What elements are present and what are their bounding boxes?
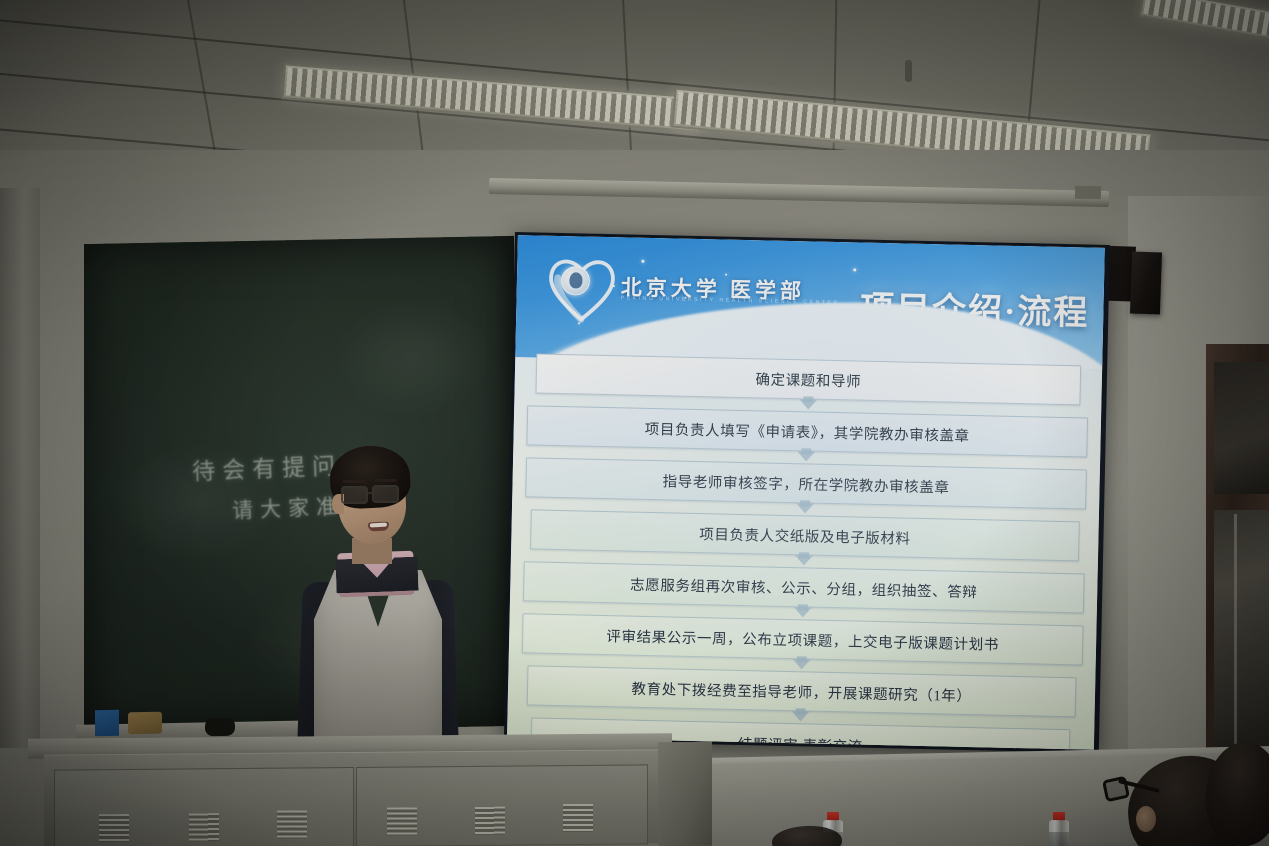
flow-step: 教育处下拨经费至指导老师，开展课题研究（1年） xyxy=(526,665,1077,717)
ceiling-light-panel xyxy=(281,63,703,133)
flow-step-label: 志愿服务组再次审核、公示、分组，组织抽签、答辩 xyxy=(630,573,978,602)
blackboard-eraser xyxy=(205,718,235,737)
eyeglasses-bridge xyxy=(367,492,374,494)
door-window-upper xyxy=(1214,362,1269,494)
flow-step-label: 项目负责人填写《申请表》，其学院教办审核盖章 xyxy=(645,417,970,445)
podium-door-left[interactable] xyxy=(54,767,354,846)
metal-podium-cabinet xyxy=(44,749,658,846)
eyeglasses-icon xyxy=(341,486,368,504)
wall-speaker xyxy=(1130,251,1162,314)
lecture-room-photo: 待会有提问环节 请大家准备 xyxy=(0,0,1269,846)
sprinkler-head-icon xyxy=(905,60,912,82)
podium-door-right[interactable] xyxy=(356,764,648,846)
flow-arrow-icon xyxy=(792,711,810,721)
tray-object xyxy=(128,712,162,735)
slide-banner: 北京大学 医学部 PEKING UNIVERSITY HEALTH SCIENC… xyxy=(515,235,1105,370)
flow-chart: 确定课题和导师 项目负责人填写《申请表》，其学院教办审核盖章 指导老师审核签字，… xyxy=(507,353,1102,748)
eyeglasses-icon xyxy=(372,485,399,503)
chalk-box xyxy=(95,710,119,736)
audience-ear xyxy=(1136,806,1156,832)
flow-arrow-icon xyxy=(793,659,811,669)
flow-arrow-icon xyxy=(798,451,816,461)
flow-step: 评审结果公示一周，公布立项课题，上交电子版课题计划书 xyxy=(522,613,1084,665)
ceiling-light-panel xyxy=(1139,0,1269,43)
door-window-lower xyxy=(1214,510,1269,750)
classroom-door[interactable] xyxy=(1206,344,1269,764)
flow-step-label: 指导老师审核签字，所在学院教办审核盖章 xyxy=(662,470,949,497)
door-mullion xyxy=(1234,514,1237,749)
flow-arrow-icon xyxy=(794,607,812,617)
podium-side-panel xyxy=(658,742,712,846)
projected-slide: 北京大学 医学部 PEKING UNIVERSITY HEALTH SCIENC… xyxy=(507,235,1105,750)
presenter-sweater-vest xyxy=(314,570,442,760)
flow-arrow-icon xyxy=(799,399,817,409)
presenter xyxy=(286,446,476,756)
flow-step: 项目负责人交纸版及电子版材料 xyxy=(530,509,1081,561)
flow-step: 志愿服务组再次审核、公示、分组，组织抽签、答辩 xyxy=(523,561,1085,613)
water-bottle[interactable] xyxy=(1049,812,1069,846)
flow-step-label: 确定课题和导师 xyxy=(755,368,861,391)
flow-step-label: 评审结果公示一周，公布立项课题，上交电子版课题计划书 xyxy=(606,625,999,655)
flow-step-label: 项目负责人交纸版及电子版材料 xyxy=(699,523,911,549)
wall-pillar xyxy=(0,188,40,748)
flow-step: 项目负责人填写《申请表》，其学院教办审核盖章 xyxy=(526,405,1088,457)
projector-screen: 北京大学 医学部 PEKING UNIVERSITY HEALTH SCIENC… xyxy=(504,232,1110,753)
screen-roller-cap xyxy=(1075,186,1101,200)
flow-arrow-icon xyxy=(795,555,813,565)
flow-arrow-icon xyxy=(796,503,814,513)
flow-step-label: 教育处下拨经费至指导老师，开展课题研究（1年） xyxy=(631,677,971,705)
flow-step: 指导老师审核签字，所在学院教办审核盖章 xyxy=(525,457,1087,509)
